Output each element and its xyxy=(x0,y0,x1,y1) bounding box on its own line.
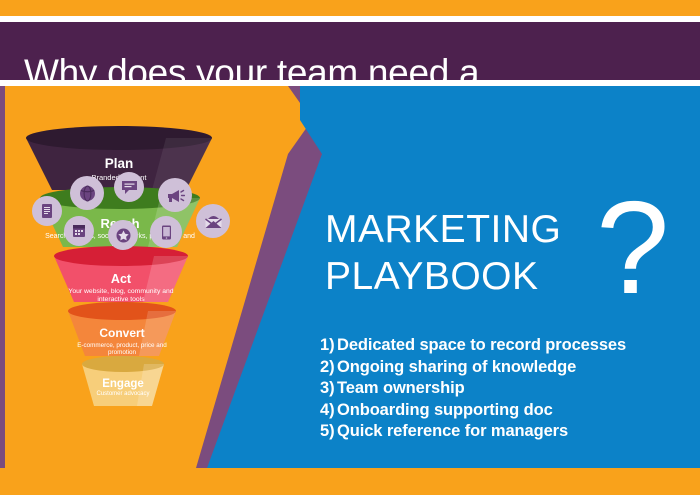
infographic-canvas: Why does your team need a... Plan Brande… xyxy=(0,0,700,495)
top-accent-strip xyxy=(0,0,700,16)
headline-line-2: PLAYBOOK xyxy=(325,253,625,300)
list-item-label: Quick reference for managers xyxy=(337,422,568,440)
calendar-icon xyxy=(64,216,94,246)
list-item: 3)Team ownership xyxy=(320,378,670,400)
list-item-number: 5) xyxy=(320,421,337,443)
list-item-label: Onboarding supporting doc xyxy=(337,401,553,419)
list-item-number: 3) xyxy=(320,378,337,400)
list-item-number: 2) xyxy=(320,357,337,379)
benefits-list: 1)Dedicated space to record processes 2)… xyxy=(320,335,670,443)
list-item-number: 4) xyxy=(320,400,337,422)
list-item-label: Team ownership xyxy=(337,379,465,397)
document-icon xyxy=(32,196,62,226)
list-item: 1)Dedicated space to record processes xyxy=(320,335,670,357)
megaphone-icon xyxy=(158,178,192,212)
bottom-accent-strip xyxy=(0,468,700,495)
headline-line-1: MARKETING xyxy=(325,206,625,253)
list-item: 2)Ongoing sharing of knowledge xyxy=(320,357,670,379)
list-item-label: Dedicated space to record processes xyxy=(337,336,626,354)
top-icon-cluster xyxy=(24,172,274,232)
list-item-label: Ongoing sharing of knowledge xyxy=(337,358,576,376)
chat-bubble-icon xyxy=(114,172,144,202)
tablet-icon xyxy=(150,216,182,248)
headline: MARKETING PLAYBOOK xyxy=(325,206,625,300)
body-area: Plan Branded content Reach Search engine… xyxy=(0,86,700,468)
list-item-number: 1) xyxy=(320,335,337,357)
globe-icon xyxy=(70,176,104,210)
list-item: 5)Quick reference for managers xyxy=(320,421,670,443)
star-badge-icon xyxy=(108,220,138,250)
funnel-label-engage: Engage Customer advocacy xyxy=(82,378,164,398)
funnel-label-convert: Convert E-commerce, product, price and p… xyxy=(68,326,176,357)
question-mark-icon: ? xyxy=(596,182,669,314)
envelope-icon xyxy=(196,204,230,238)
list-item: 4)Onboarding supporting doc xyxy=(320,400,670,422)
funnel-label-act: Act Your website, blog, community and in… xyxy=(54,272,188,304)
header-band: Why does your team need a... xyxy=(0,22,700,80)
